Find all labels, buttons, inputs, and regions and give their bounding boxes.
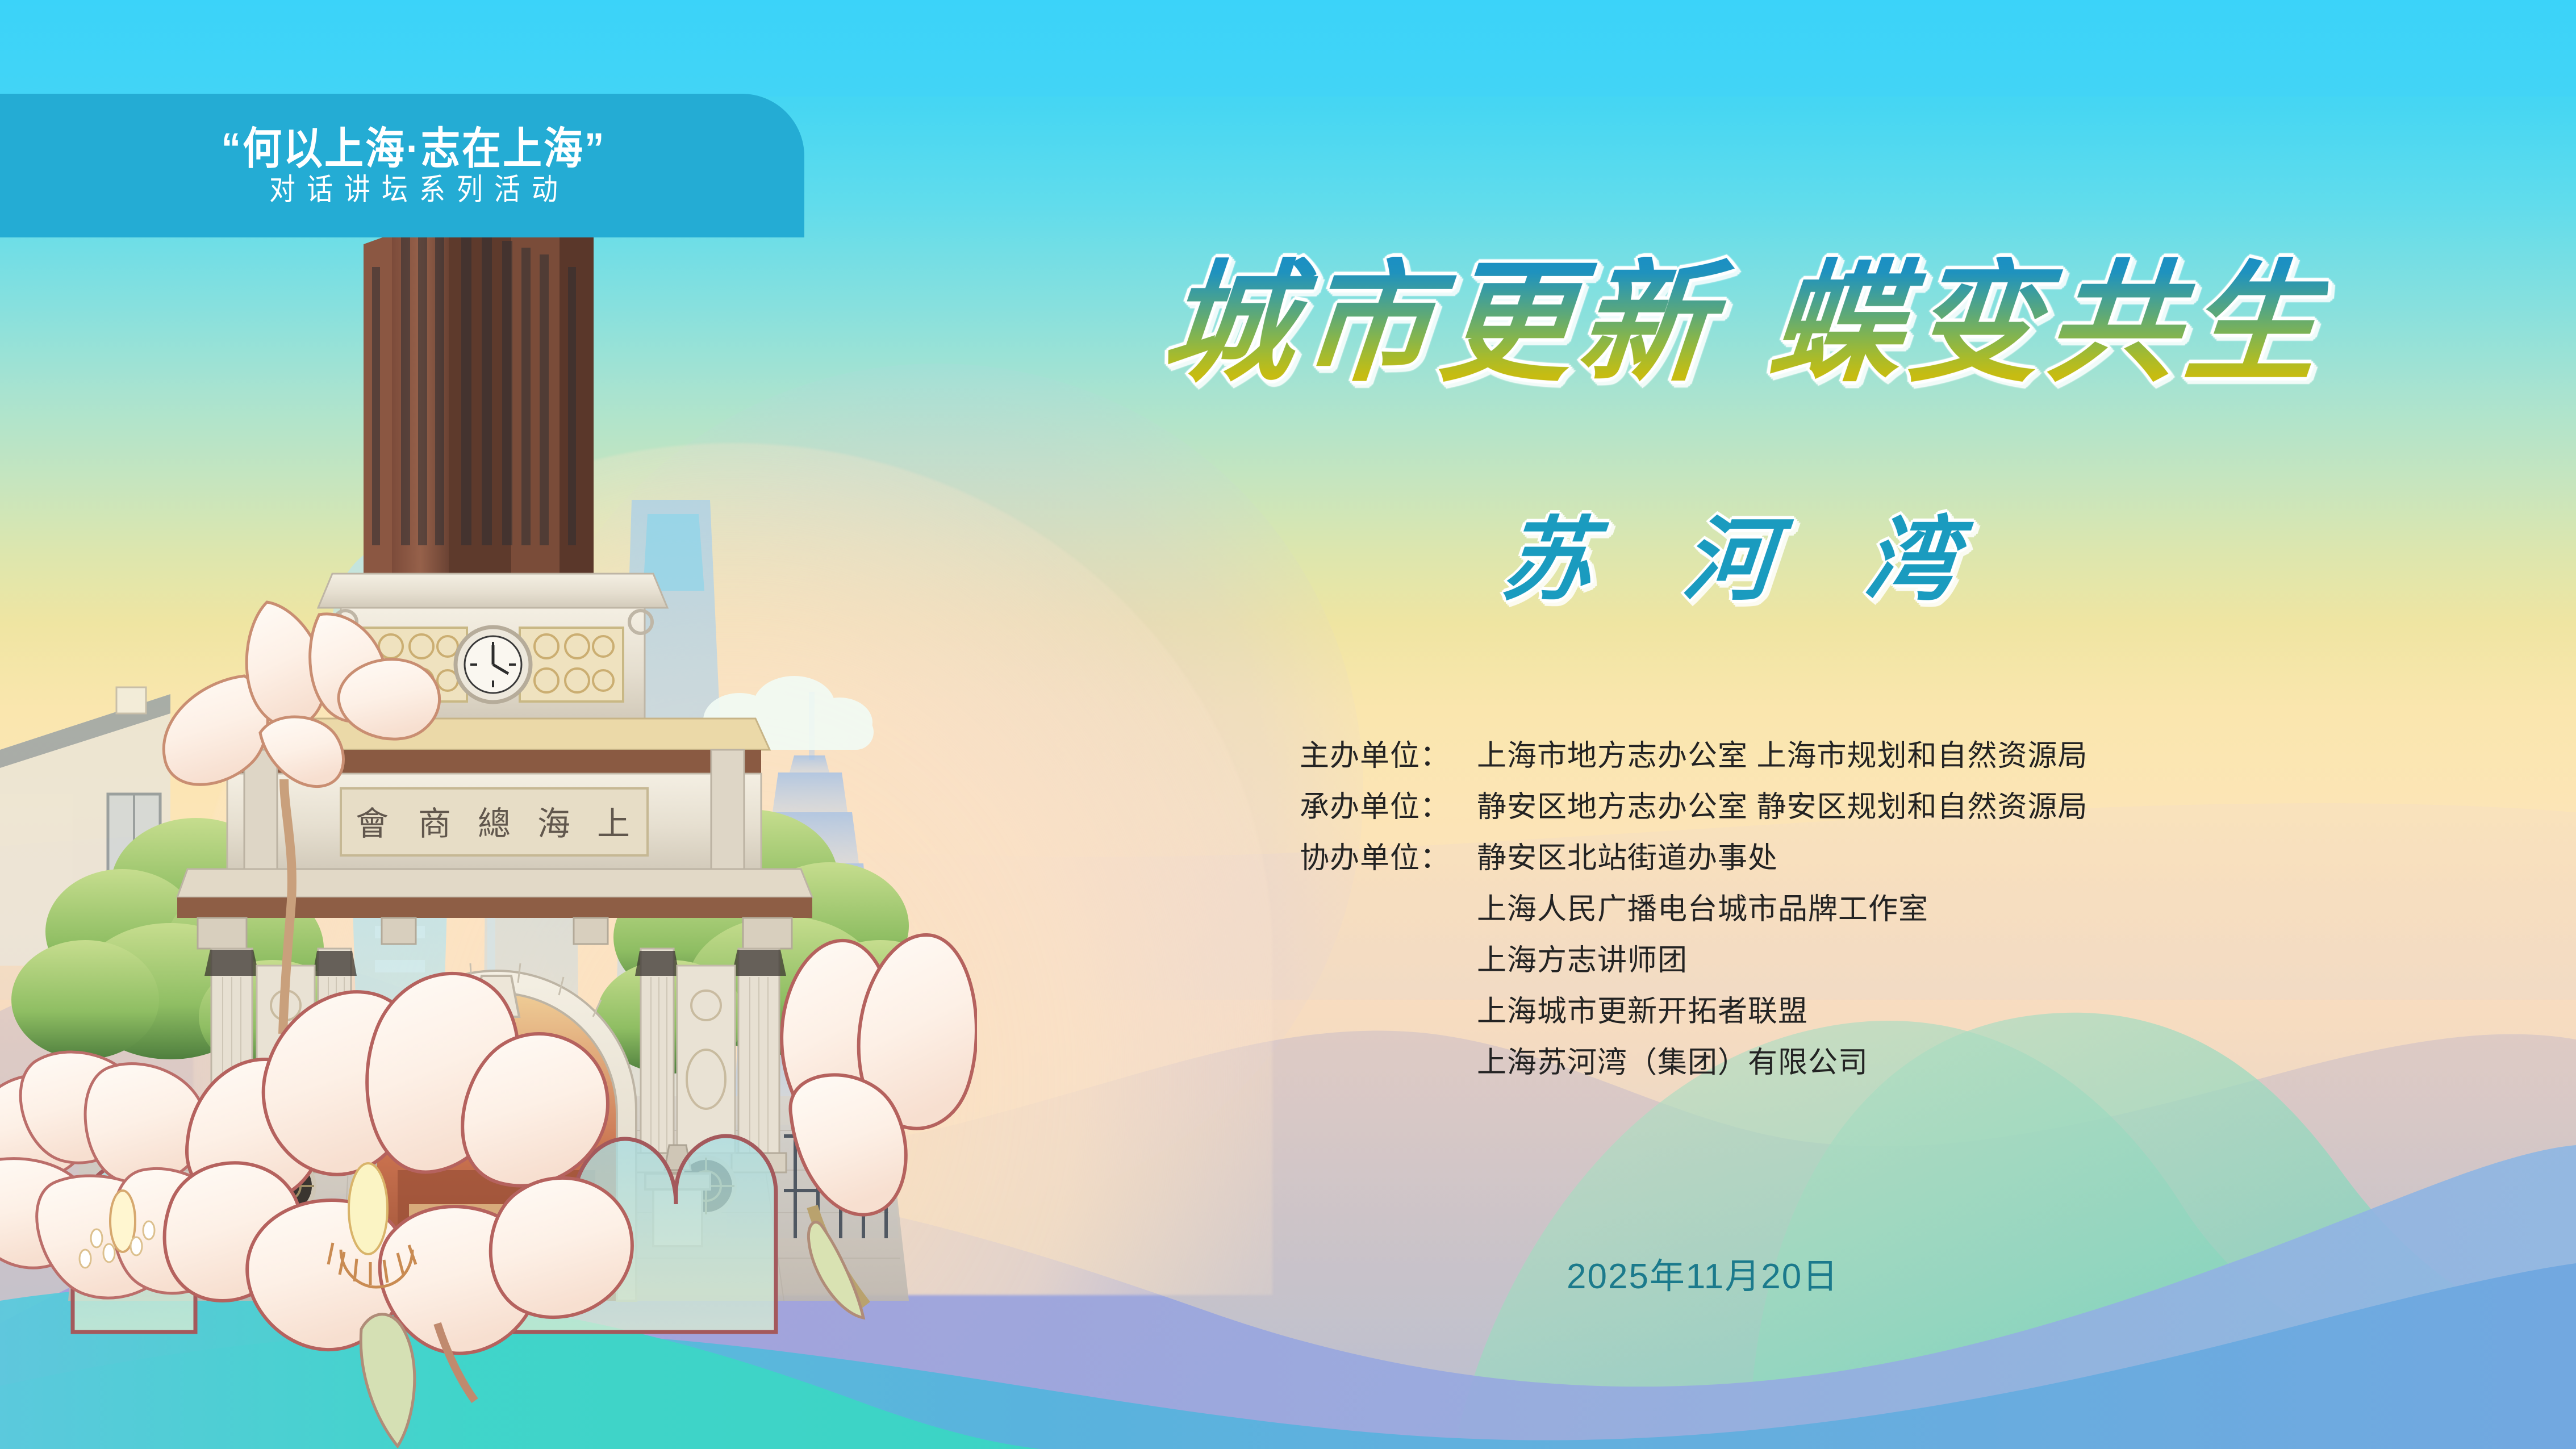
organizer-row: 承办单位： 静安区地方志办公室 静安区规划和自然资源局 [1300, 792, 2322, 822]
organizer-value: 上海人民广播电台城市品牌工作室 [1477, 895, 1928, 924]
organizer-value: 上海苏河湾（集团）有限公司 [1477, 1048, 1868, 1078]
svg-text:商: 商 [418, 804, 451, 843]
svg-text:會: 會 [356, 804, 389, 843]
sub-title-container: 苏 河 湾 [1000, 514, 2488, 605]
svg-text:上: 上 [597, 804, 630, 843]
organizer-value: 上海方志讲师团 [1477, 946, 1688, 975]
organizer-row: 主办单位： 上海市地方志办公室 上海市规划和自然资源局 [1300, 741, 2322, 771]
poster-canvas: 會 商 總 海 上 [0, 0, 2576, 1449]
organizer-label: 协办单位： [1300, 843, 1477, 873]
organizer-value: 静安区北站街道办事处 [1477, 843, 1778, 873]
organizer-list: 主办单位： 上海市地方志办公室 上海市规划和自然资源局 承办单位： 静安区地方志… [1300, 741, 2322, 1078]
svg-text:海: 海 [537, 804, 570, 843]
organizer-label: 主办单位： [1300, 741, 1477, 771]
organizer-label: 承办单位： [1300, 792, 1477, 822]
page-title: 城市更新 蝶变共生 [1157, 257, 2330, 389]
svg-text:總: 總 [478, 804, 511, 843]
main-title-container: 城市更新 蝶变共生 [1000, 257, 2488, 389]
organizer-value: 上海城市更新开拓者联盟 [1477, 997, 1808, 1026]
organizer-row: 协办单位： 上海方志讲师团 [1300, 946, 2322, 975]
banner-line-1: “何以上海·志在上海” [222, 127, 606, 170]
event-series-banner: “何以上海·志在上海” 对话讲坛系列活动 [0, 94, 804, 237]
organizer-row: 协办单位： 上海人民广播电台城市品牌工作室 [1300, 895, 2322, 924]
organizer-row: 协办单位： 上海城市更新开拓者联盟 [1300, 997, 2322, 1026]
organizer-row: 协办单位： 上海苏河湾（集团）有限公司 [1300, 1048, 2322, 1078]
sub-title: 苏 河 湾 [1498, 514, 1989, 605]
banner-line-2: 对话讲坛系列活动 [258, 174, 569, 204]
organizer-row: 协办单位： 静安区北站街道办事处 [1300, 843, 2322, 873]
event-date: 2025年11月20日 [1567, 1247, 1839, 1298]
organizer-value: 静安区地方志办公室 静安区规划和自然资源局 [1477, 792, 2087, 822]
organizer-value: 上海市地方志办公室 上海市规划和自然资源局 [1477, 741, 2087, 771]
